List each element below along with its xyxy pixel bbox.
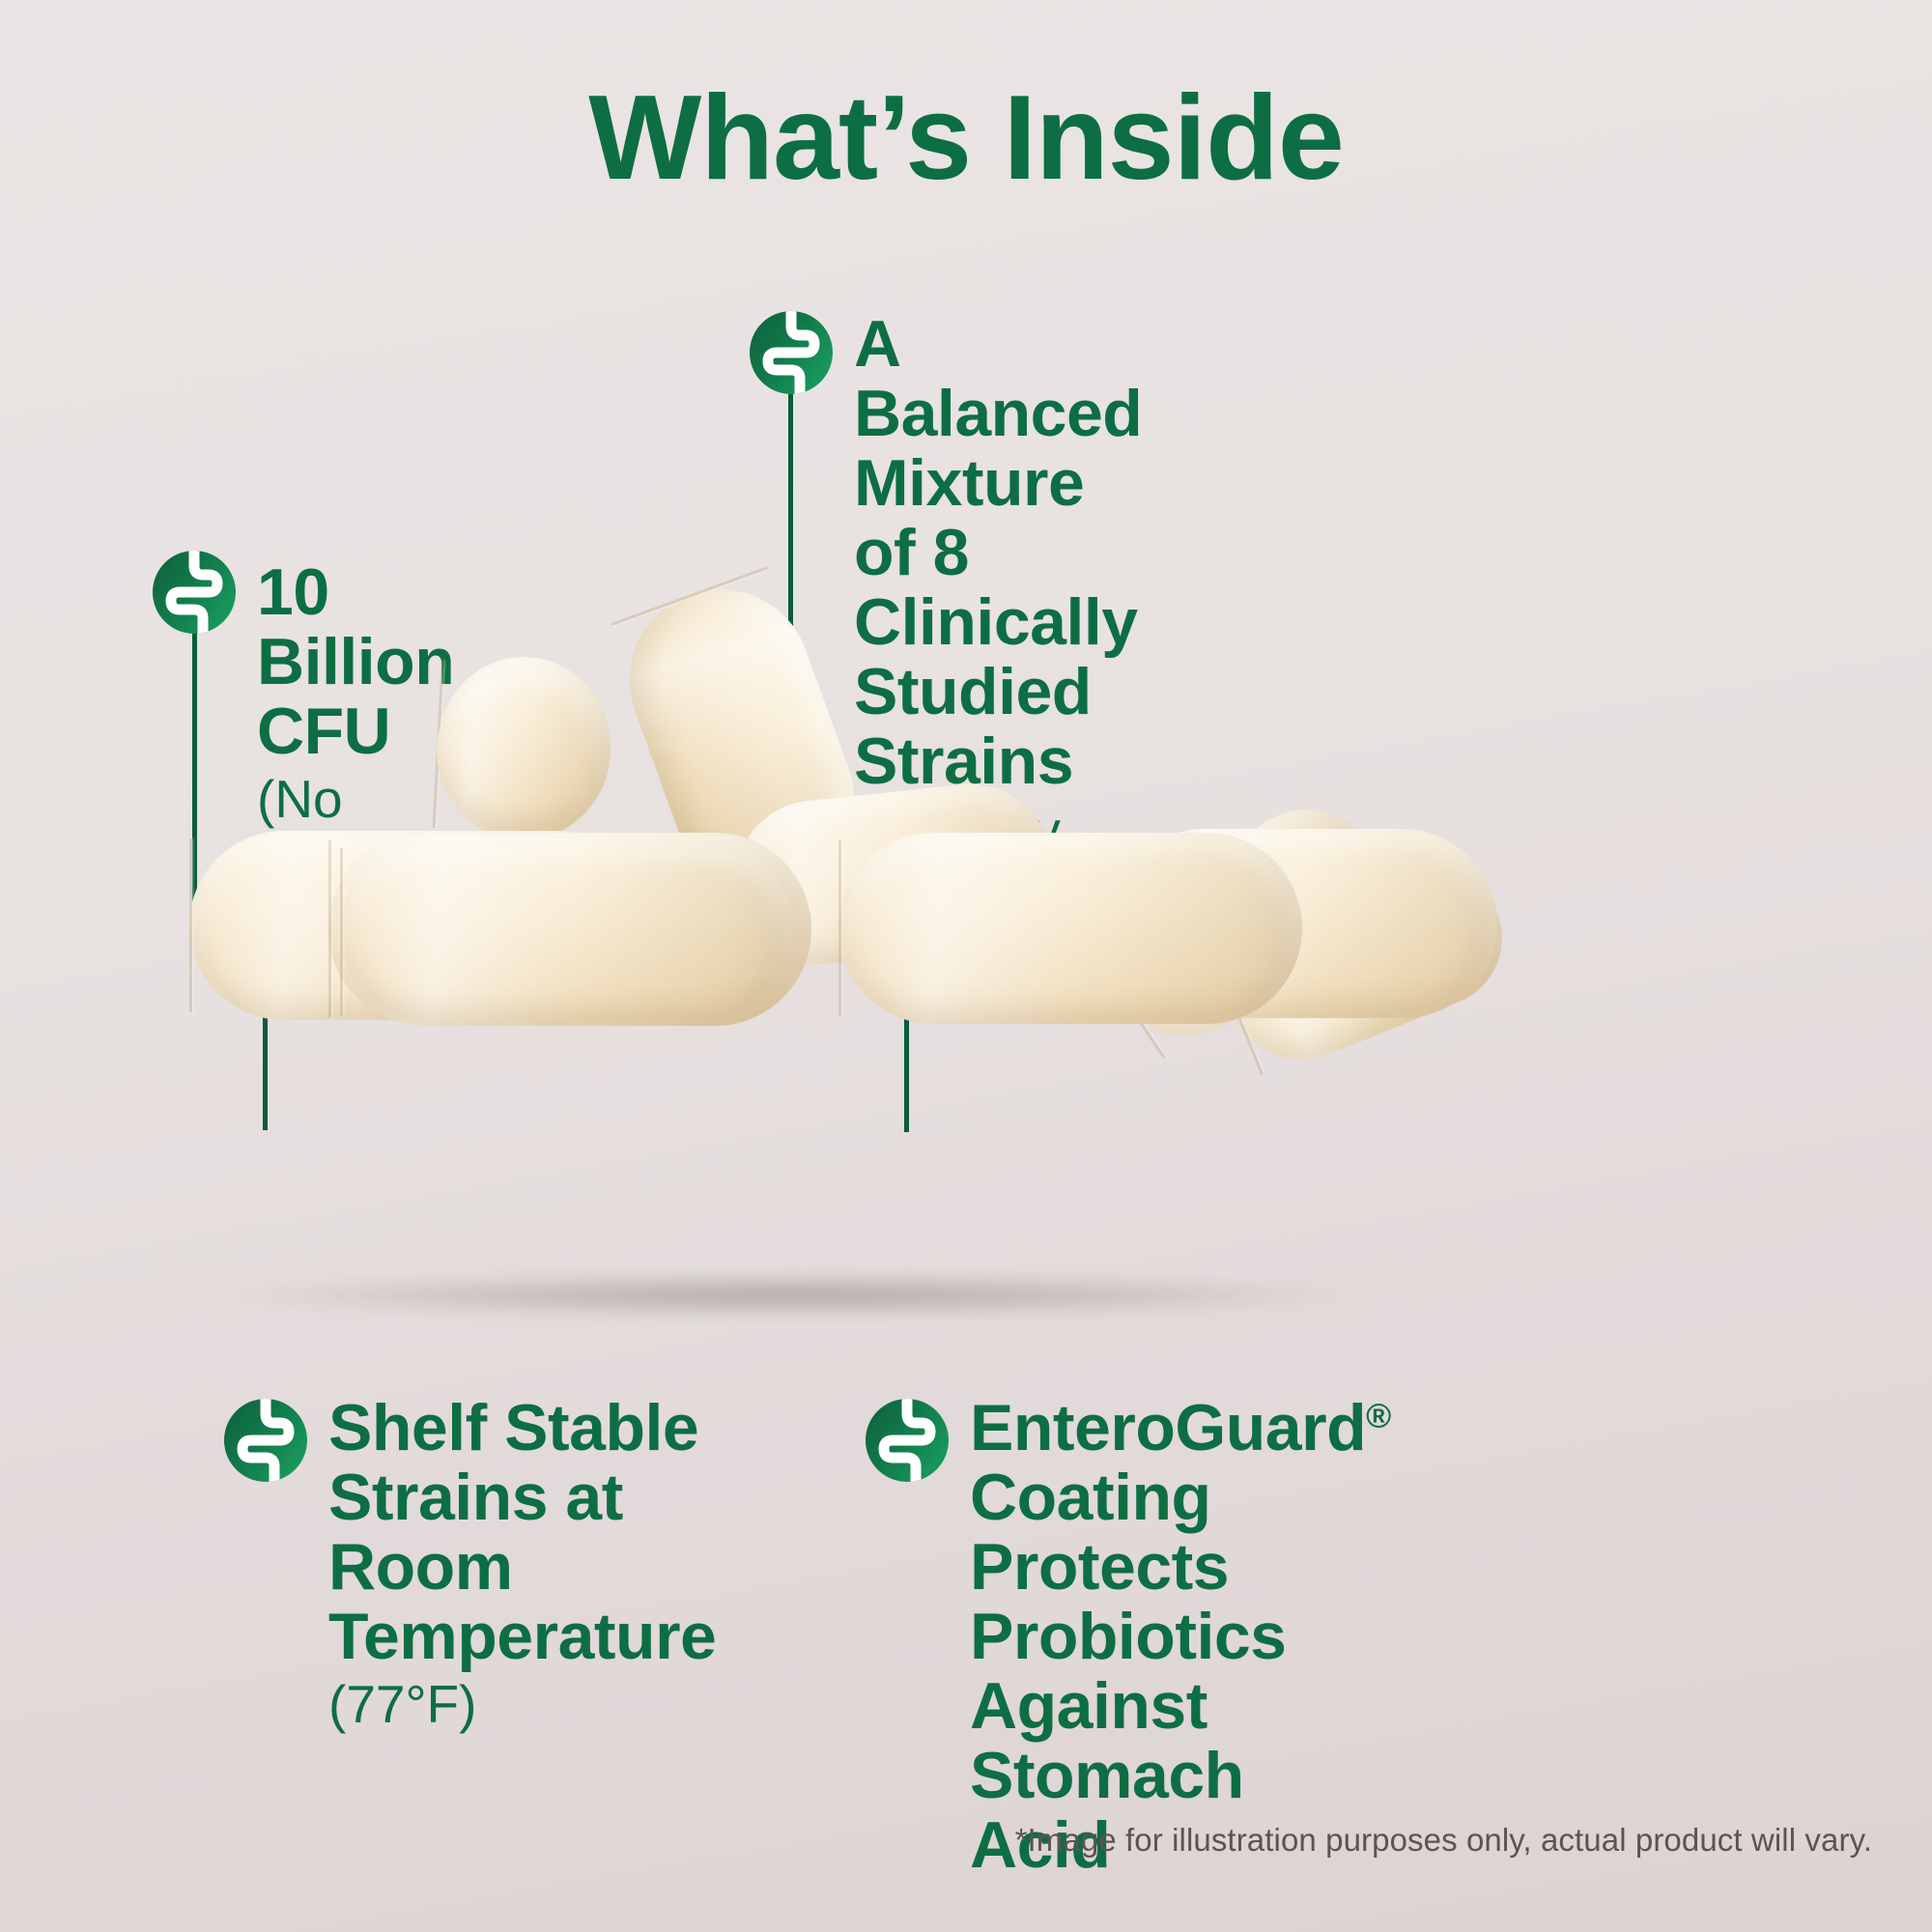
- callout-shelf-stable-subtext: (77°F): [328, 1675, 716, 1735]
- capsule-base-far-right: [1111, 829, 1497, 1018]
- capsule-back-right-2: [1210, 846, 1522, 1081]
- callout-cfu-text: 10 Billion CFU (No Filler Strains): [257, 557, 454, 949]
- capsule-standing-left: [432, 652, 615, 844]
- intestine-icon: [224, 1399, 307, 1482]
- intestine-icon: [866, 1399, 949, 1482]
- page-title: What’s Inside: [0, 75, 1932, 201]
- callout-enteroguard-text: EnteroGuard® Coating Protects Probiotics…: [970, 1393, 1391, 1881]
- leader-line-cfu-vertical: [192, 633, 197, 947]
- callout-cfu-heading: 10 Billion CFU: [257, 557, 454, 766]
- callout-strains-text: A Balanced Mixture of 8 Clinically Studi…: [854, 309, 1142, 920]
- capsule-standing-left-body: [437, 667, 611, 836]
- callout-strains-subtext: (Friendly Bacteria): [854, 801, 1142, 920]
- registered-trademark-symbol: ®: [1366, 1397, 1391, 1435]
- callout-enteroguard-heading-pre: EnteroGuard: [970, 1391, 1366, 1464]
- callout-cfu-subtext: (No Filler Strains): [257, 770, 454, 949]
- intestine-icon: [750, 311, 833, 394]
- callout-enteroguard-heading-post: Coating Protects Probiotics Against Stom…: [970, 1461, 1287, 1882]
- pile-floor-shadow: [222, 1273, 1362, 1318]
- capsule-pile-image: [0, 0, 1932, 1932]
- callout-enteroguard-heading: EnteroGuard® Coating Protects Probiotics…: [970, 1393, 1391, 1881]
- intestine-icon: [153, 551, 236, 634]
- callout-strains-heading: A Balanced Mixture of 8 Clinically Studi…: [854, 309, 1142, 797]
- infographic-canvas: What’s Inside: [0, 0, 1932, 1932]
- capsule-leaning-mid: [604, 563, 880, 916]
- leader-line-enteroguard: [904, 952, 909, 1132]
- callout-shelf-stable-text: Shelf Stable Strains at Room Temperature…: [328, 1393, 716, 1735]
- callout-shelf-stable-heading: Shelf Stable Strains at Room Temperature: [328, 1393, 716, 1671]
- leader-line-shelf-stable: [263, 956, 268, 1130]
- leader-line-strains: [788, 394, 793, 752]
- disclaimer-footnote: *Image for illustration purposes only, a…: [1015, 1822, 1872, 1859]
